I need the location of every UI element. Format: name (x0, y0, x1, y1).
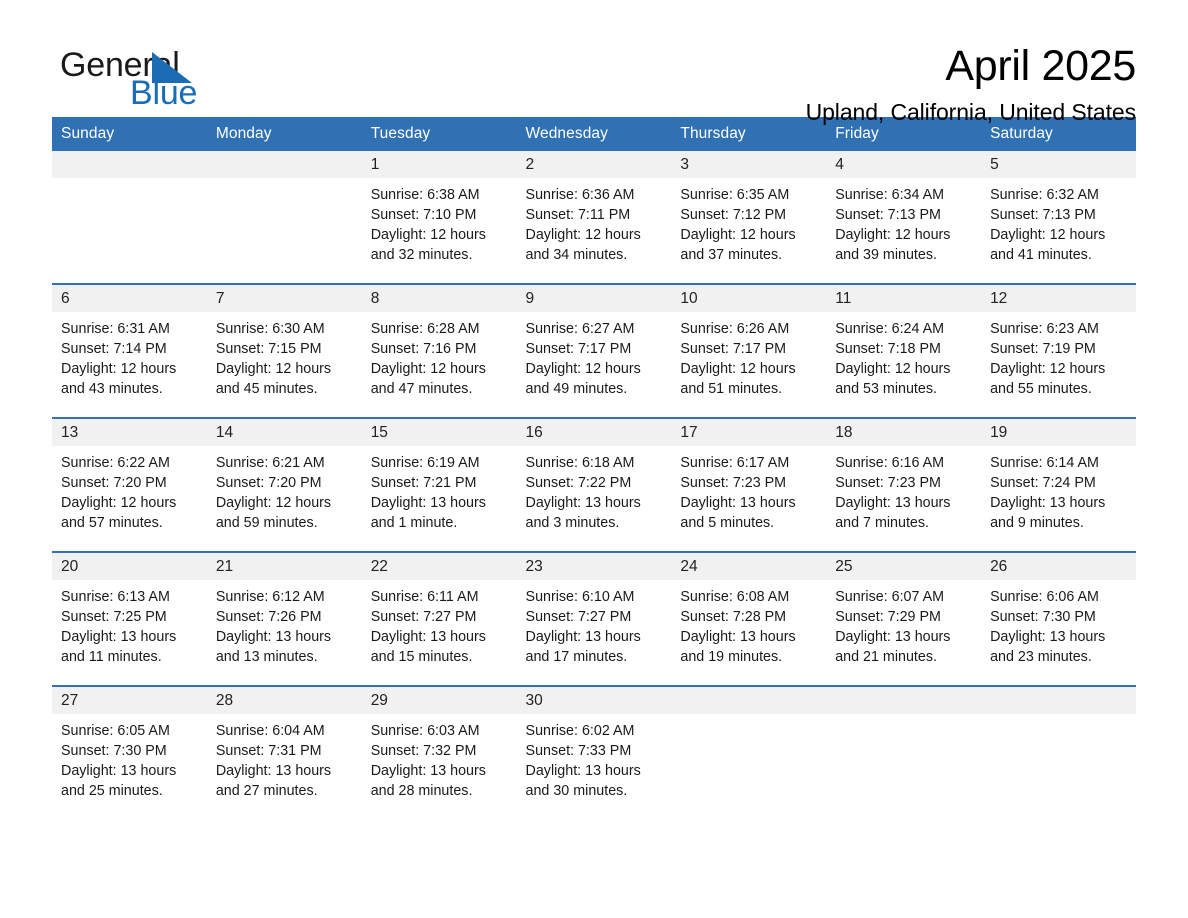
calendar-day-cell[interactable]: 1Sunrise: 6:38 AMSunset: 7:10 PMDaylight… (362, 151, 517, 284)
daylight-duration-line1: Daylight: 13 hours (526, 627, 662, 647)
calendar-day-cell[interactable]: 13Sunrise: 6:22 AMSunset: 7:20 PMDayligh… (52, 418, 207, 552)
calendar-day-cell (826, 686, 981, 819)
daylight-duration-line1: Daylight: 12 hours (680, 225, 816, 245)
day-cell-content: 8Sunrise: 6:28 AMSunset: 7:16 PMDaylight… (362, 285, 517, 417)
calendar-day-cell (981, 686, 1136, 819)
day-number: 16 (517, 419, 672, 446)
sunrise-time: Sunrise: 6:06 AM (990, 587, 1126, 607)
day-cell-content: 6Sunrise: 6:31 AMSunset: 7:14 PMDaylight… (52, 285, 207, 417)
calendar-day-cell (207, 151, 362, 284)
day-details: Sunrise: 6:13 AMSunset: 7:25 PMDaylight:… (52, 580, 207, 667)
sunset-time: Sunset: 7:29 PM (835, 607, 971, 627)
day-number: 28 (207, 687, 362, 714)
sunrise-time: Sunrise: 6:02 AM (526, 721, 662, 741)
calendar-day-cell[interactable]: 7Sunrise: 6:30 AMSunset: 7:15 PMDaylight… (207, 284, 362, 418)
daylight-duration-line1: Daylight: 12 hours (216, 493, 352, 513)
day-cell-content: 17Sunrise: 6:17 AMSunset: 7:23 PMDayligh… (671, 419, 826, 551)
calendar-day-cell[interactable]: 5Sunrise: 6:32 AMSunset: 7:13 PMDaylight… (981, 151, 1136, 284)
sunrise-time: Sunrise: 6:26 AM (680, 319, 816, 339)
day-details: Sunrise: 6:28 AMSunset: 7:16 PMDaylight:… (362, 312, 517, 399)
calendar-day-cell[interactable]: 2Sunrise: 6:36 AMSunset: 7:11 PMDaylight… (517, 151, 672, 284)
day-cell-content: 7Sunrise: 6:30 AMSunset: 7:15 PMDaylight… (207, 285, 362, 417)
day-cell-content: 16Sunrise: 6:18 AMSunset: 7:22 PMDayligh… (517, 419, 672, 551)
weekday-header-wednesday: Wednesday (517, 117, 672, 151)
sunset-time: Sunset: 7:25 PM (61, 607, 197, 627)
day-number: 5 (981, 151, 1136, 178)
daylight-duration-line2: and 59 minutes. (216, 513, 352, 533)
daylight-duration-line1: Daylight: 13 hours (526, 493, 662, 513)
day-cell-content (981, 687, 1136, 819)
day-number: 17 (671, 419, 826, 446)
daylight-duration-line2: and 28 minutes. (371, 781, 507, 801)
day-cell-content: 15Sunrise: 6:19 AMSunset: 7:21 PMDayligh… (362, 419, 517, 551)
sunset-time: Sunset: 7:16 PM (371, 339, 507, 359)
calendar-day-cell[interactable]: 18Sunrise: 6:16 AMSunset: 7:23 PMDayligh… (826, 418, 981, 552)
day-details: Sunrise: 6:06 AMSunset: 7:30 PMDaylight:… (981, 580, 1136, 667)
calendar-day-cell (52, 151, 207, 284)
day-number: 2 (517, 151, 672, 178)
day-number: 30 (517, 687, 672, 714)
calendar-day-cell[interactable]: 16Sunrise: 6:18 AMSunset: 7:22 PMDayligh… (517, 418, 672, 552)
day-number: 7 (207, 285, 362, 312)
sunrise-time: Sunrise: 6:03 AM (371, 721, 507, 741)
sunrise-time: Sunrise: 6:30 AM (216, 319, 352, 339)
daylight-duration-line1: Daylight: 13 hours (61, 761, 197, 781)
sunset-time: Sunset: 7:15 PM (216, 339, 352, 359)
sunset-time: Sunset: 7:13 PM (990, 205, 1126, 225)
sunset-time: Sunset: 7:22 PM (526, 473, 662, 493)
calendar-day-cell[interactable]: 10Sunrise: 6:26 AMSunset: 7:17 PMDayligh… (671, 284, 826, 418)
daylight-duration-line2: and 45 minutes. (216, 379, 352, 399)
daylight-duration-line2: and 1 minute. (371, 513, 507, 533)
sunset-time: Sunset: 7:33 PM (526, 741, 662, 761)
sunset-time: Sunset: 7:14 PM (61, 339, 197, 359)
sunrise-time: Sunrise: 6:34 AM (835, 185, 971, 205)
calendar-day-cell[interactable]: 9Sunrise: 6:27 AMSunset: 7:17 PMDaylight… (517, 284, 672, 418)
day-cell-content: 28Sunrise: 6:04 AMSunset: 7:31 PMDayligh… (207, 687, 362, 819)
calendar-day-cell[interactable]: 8Sunrise: 6:28 AMSunset: 7:16 PMDaylight… (362, 284, 517, 418)
calendar-body: 1Sunrise: 6:38 AMSunset: 7:10 PMDaylight… (52, 151, 1136, 819)
sunrise-time: Sunrise: 6:08 AM (680, 587, 816, 607)
daylight-duration-line2: and 15 minutes. (371, 647, 507, 667)
daylight-duration-line1: Daylight: 12 hours (680, 359, 816, 379)
sunrise-time: Sunrise: 6:24 AM (835, 319, 971, 339)
sunrise-time: Sunrise: 6:14 AM (990, 453, 1126, 473)
sunrise-time: Sunrise: 6:07 AM (835, 587, 971, 607)
day-details: Sunrise: 6:21 AMSunset: 7:20 PMDaylight:… (207, 446, 362, 533)
daylight-duration-line2: and 34 minutes. (526, 245, 662, 265)
daylight-duration-line1: Daylight: 13 hours (835, 493, 971, 513)
day-number: 13 (52, 419, 207, 446)
day-cell-content: 21Sunrise: 6:12 AMSunset: 7:26 PMDayligh… (207, 553, 362, 685)
calendar-day-cell[interactable]: 19Sunrise: 6:14 AMSunset: 7:24 PMDayligh… (981, 418, 1136, 552)
sunset-time: Sunset: 7:23 PM (680, 473, 816, 493)
daylight-duration-line2: and 23 minutes. (990, 647, 1126, 667)
sunrise-time: Sunrise: 6:10 AM (526, 587, 662, 607)
general-blue-logo[interactable]: General Blue (52, 42, 302, 112)
weekday-header-monday: Monday (207, 117, 362, 151)
day-details: Sunrise: 6:35 AMSunset: 7:12 PMDaylight:… (671, 178, 826, 265)
title-block: April 2025 Upland, California, United St… (806, 42, 1136, 126)
calendar-day-cell[interactable]: 21Sunrise: 6:12 AMSunset: 7:26 PMDayligh… (207, 552, 362, 686)
day-cell-content: 26Sunrise: 6:06 AMSunset: 7:30 PMDayligh… (981, 553, 1136, 685)
day-number: 26 (981, 553, 1136, 580)
day-cell-content: 22Sunrise: 6:11 AMSunset: 7:27 PMDayligh… (362, 553, 517, 685)
daylight-duration-line2: and 5 minutes. (680, 513, 816, 533)
day-number: 22 (362, 553, 517, 580)
day-number: 25 (826, 553, 981, 580)
sunrise-time: Sunrise: 6:36 AM (526, 185, 662, 205)
daylight-duration-line1: Daylight: 13 hours (371, 627, 507, 647)
sunset-time: Sunset: 7:20 PM (61, 473, 197, 493)
day-details: Sunrise: 6:17 AMSunset: 7:23 PMDaylight:… (671, 446, 826, 533)
day-cell-content: 18Sunrise: 6:16 AMSunset: 7:23 PMDayligh… (826, 419, 981, 551)
daylight-duration-line1: Daylight: 12 hours (526, 359, 662, 379)
sunset-time: Sunset: 7:26 PM (216, 607, 352, 627)
day-details: Sunrise: 6:32 AMSunset: 7:13 PMDaylight:… (981, 178, 1136, 265)
calendar-day-cell[interactable]: 29Sunrise: 6:03 AMSunset: 7:32 PMDayligh… (362, 686, 517, 819)
calendar-day-cell[interactable]: 30Sunrise: 6:02 AMSunset: 7:33 PMDayligh… (517, 686, 672, 819)
day-number: 14 (207, 419, 362, 446)
day-number: 27 (52, 687, 207, 714)
day-number: 11 (826, 285, 981, 312)
sunrise-time: Sunrise: 6:12 AM (216, 587, 352, 607)
calendar-day-cell[interactable]: 24Sunrise: 6:08 AMSunset: 7:28 PMDayligh… (671, 552, 826, 686)
calendar-day-cell[interactable]: 28Sunrise: 6:04 AMSunset: 7:31 PMDayligh… (207, 686, 362, 819)
sunset-time: Sunset: 7:31 PM (216, 741, 352, 761)
day-cell-content: 20Sunrise: 6:13 AMSunset: 7:25 PMDayligh… (52, 553, 207, 685)
sunset-time: Sunset: 7:27 PM (371, 607, 507, 627)
sunrise-time: Sunrise: 6:19 AM (371, 453, 507, 473)
day-number (207, 151, 362, 178)
day-details: Sunrise: 6:27 AMSunset: 7:17 PMDaylight:… (517, 312, 672, 399)
day-number (671, 687, 826, 714)
calendar-day-cell[interactable]: 12Sunrise: 6:23 AMSunset: 7:19 PMDayligh… (981, 284, 1136, 418)
sunrise-time: Sunrise: 6:13 AM (61, 587, 197, 607)
calendar-day-cell[interactable]: 15Sunrise: 6:19 AMSunset: 7:21 PMDayligh… (362, 418, 517, 552)
day-number: 12 (981, 285, 1136, 312)
calendar-week-row: 6Sunrise: 6:31 AMSunset: 7:14 PMDaylight… (52, 284, 1136, 418)
day-cell-content: 23Sunrise: 6:10 AMSunset: 7:27 PMDayligh… (517, 553, 672, 685)
day-cell-content: 10Sunrise: 6:26 AMSunset: 7:17 PMDayligh… (671, 285, 826, 417)
calendar-week-row: 27Sunrise: 6:05 AMSunset: 7:30 PMDayligh… (52, 686, 1136, 819)
daylight-duration-line1: Daylight: 13 hours (990, 493, 1126, 513)
day-number: 8 (362, 285, 517, 312)
day-number: 6 (52, 285, 207, 312)
weekday-header-thursday: Thursday (671, 117, 826, 151)
sunrise-time: Sunrise: 6:32 AM (990, 185, 1126, 205)
daylight-duration-line2: and 21 minutes. (835, 647, 971, 667)
day-number: 15 (362, 419, 517, 446)
weekday-header-sunday: Sunday (52, 117, 207, 151)
sunset-time: Sunset: 7:28 PM (680, 607, 816, 627)
calendar-day-cell[interactable]: 23Sunrise: 6:10 AMSunset: 7:27 PMDayligh… (517, 552, 672, 686)
day-cell-content: 3Sunrise: 6:35 AMSunset: 7:12 PMDaylight… (671, 151, 826, 283)
daylight-duration-line1: Daylight: 12 hours (526, 225, 662, 245)
daylight-duration-line2: and 27 minutes. (216, 781, 352, 801)
calendar-page: General Blue April 2025 Upland, Californ… (0, 0, 1188, 918)
daylight-duration-line1: Daylight: 13 hours (371, 761, 507, 781)
calendar-day-cell[interactable]: 17Sunrise: 6:17 AMSunset: 7:23 PMDayligh… (671, 418, 826, 552)
day-details: Sunrise: 6:12 AMSunset: 7:26 PMDaylight:… (207, 580, 362, 667)
daylight-duration-line1: Daylight: 12 hours (990, 359, 1126, 379)
day-cell-content: 1Sunrise: 6:38 AMSunset: 7:10 PMDaylight… (362, 151, 517, 283)
daylight-duration-line2: and 17 minutes. (526, 647, 662, 667)
day-cell-content: 2Sunrise: 6:36 AMSunset: 7:11 PMDaylight… (517, 151, 672, 283)
daylight-duration-line2: and 13 minutes. (216, 647, 352, 667)
sunrise-time: Sunrise: 6:27 AM (526, 319, 662, 339)
calendar-day-cell[interactable]: 6Sunrise: 6:31 AMSunset: 7:14 PMDaylight… (52, 284, 207, 418)
day-cell-content: 25Sunrise: 6:07 AMSunset: 7:29 PMDayligh… (826, 553, 981, 685)
day-details: Sunrise: 6:31 AMSunset: 7:14 PMDaylight:… (52, 312, 207, 399)
daylight-duration-line1: Daylight: 12 hours (216, 359, 352, 379)
calendar-day-cell[interactable]: 25Sunrise: 6:07 AMSunset: 7:29 PMDayligh… (826, 552, 981, 686)
sunrise-time: Sunrise: 6:21 AM (216, 453, 352, 473)
day-details: Sunrise: 6:16 AMSunset: 7:23 PMDaylight:… (826, 446, 981, 533)
sunrise-time: Sunrise: 6:28 AM (371, 319, 507, 339)
day-number: 21 (207, 553, 362, 580)
daylight-duration-line2: and 32 minutes. (371, 245, 507, 265)
daylight-duration-line1: Daylight: 13 hours (680, 627, 816, 647)
day-details: Sunrise: 6:11 AMSunset: 7:27 PMDaylight:… (362, 580, 517, 667)
day-number (981, 687, 1136, 714)
day-number: 18 (826, 419, 981, 446)
daylight-duration-line1: Daylight: 13 hours (990, 627, 1126, 647)
day-details: Sunrise: 6:38 AMSunset: 7:10 PMDaylight:… (362, 178, 517, 265)
day-number: 20 (52, 553, 207, 580)
daylight-duration-line1: Daylight: 13 hours (680, 493, 816, 513)
sunset-time: Sunset: 7:30 PM (990, 607, 1126, 627)
calendar-day-cell[interactable]: 26Sunrise: 6:06 AMSunset: 7:30 PMDayligh… (981, 552, 1136, 686)
daylight-duration-line1: Daylight: 12 hours (835, 359, 971, 379)
day-details: Sunrise: 6:14 AMSunset: 7:24 PMDaylight:… (981, 446, 1136, 533)
daylight-duration-line2: and 37 minutes. (680, 245, 816, 265)
sunset-time: Sunset: 7:17 PM (526, 339, 662, 359)
calendar-day-cell (671, 686, 826, 819)
day-details: Sunrise: 6:10 AMSunset: 7:27 PMDaylight:… (517, 580, 672, 667)
day-details: Sunrise: 6:04 AMSunset: 7:31 PMDaylight:… (207, 714, 362, 801)
sunrise-time: Sunrise: 6:22 AM (61, 453, 197, 473)
daylight-duration-line1: Daylight: 13 hours (216, 761, 352, 781)
day-number: 23 (517, 553, 672, 580)
day-details: Sunrise: 6:03 AMSunset: 7:32 PMDaylight:… (362, 714, 517, 801)
page-header: General Blue April 2025 Upland, Californ… (52, 0, 1136, 104)
calendar-week-row: 20Sunrise: 6:13 AMSunset: 7:25 PMDayligh… (52, 552, 1136, 686)
day-cell-content: 9Sunrise: 6:27 AMSunset: 7:17 PMDaylight… (517, 285, 672, 417)
calendar-week-row: 1Sunrise: 6:38 AMSunset: 7:10 PMDaylight… (52, 151, 1136, 284)
sunrise-time: Sunrise: 6:23 AM (990, 319, 1126, 339)
daylight-duration-line2: and 7 minutes. (835, 513, 971, 533)
daylight-duration-line1: Daylight: 12 hours (990, 225, 1126, 245)
daylight-duration-line1: Daylight: 13 hours (216, 627, 352, 647)
day-details: Sunrise: 6:24 AMSunset: 7:18 PMDaylight:… (826, 312, 981, 399)
daylight-duration-line1: Daylight: 12 hours (371, 225, 507, 245)
daylight-duration-line2: and 30 minutes. (526, 781, 662, 801)
daylight-duration-line2: and 25 minutes. (61, 781, 197, 801)
sunrise-time: Sunrise: 6:38 AM (371, 185, 507, 205)
day-cell-content: 29Sunrise: 6:03 AMSunset: 7:32 PMDayligh… (362, 687, 517, 819)
sunset-time: Sunset: 7:27 PM (526, 607, 662, 627)
calendar-day-cell[interactable]: 4Sunrise: 6:34 AMSunset: 7:13 PMDaylight… (826, 151, 981, 284)
sunset-time: Sunset: 7:13 PM (835, 205, 971, 225)
day-details: Sunrise: 6:19 AMSunset: 7:21 PMDaylight:… (362, 446, 517, 533)
day-details: Sunrise: 6:18 AMSunset: 7:22 PMDaylight:… (517, 446, 672, 533)
daylight-duration-line1: Daylight: 12 hours (61, 493, 197, 513)
sunset-time: Sunset: 7:21 PM (371, 473, 507, 493)
sunset-time: Sunset: 7:24 PM (990, 473, 1126, 493)
day-number (826, 687, 981, 714)
daylight-duration-line2: and 39 minutes. (835, 245, 971, 265)
weekday-header-tuesday: Tuesday (362, 117, 517, 151)
sunset-time: Sunset: 7:30 PM (61, 741, 197, 761)
day-details: Sunrise: 6:23 AMSunset: 7:19 PMDaylight:… (981, 312, 1136, 399)
day-cell-content: 5Sunrise: 6:32 AMSunset: 7:13 PMDaylight… (981, 151, 1136, 283)
sunset-time: Sunset: 7:23 PM (835, 473, 971, 493)
day-details: Sunrise: 6:36 AMSunset: 7:11 PMDaylight:… (517, 178, 672, 265)
day-cell-content: 30Sunrise: 6:02 AMSunset: 7:33 PMDayligh… (517, 687, 672, 819)
daylight-duration-line2: and 51 minutes. (680, 379, 816, 399)
day-cell-content (52, 151, 207, 283)
daylight-duration-line2: and 19 minutes. (680, 647, 816, 667)
day-cell-content: 14Sunrise: 6:21 AMSunset: 7:20 PMDayligh… (207, 419, 362, 551)
day-cell-content: 27Sunrise: 6:05 AMSunset: 7:30 PMDayligh… (52, 687, 207, 819)
day-details: Sunrise: 6:07 AMSunset: 7:29 PMDaylight:… (826, 580, 981, 667)
daylight-duration-line2: and 53 minutes. (835, 379, 971, 399)
day-number (52, 151, 207, 178)
daylight-duration-line2: and 43 minutes. (61, 379, 197, 399)
daylight-duration-line2: and 3 minutes. (526, 513, 662, 533)
day-number: 19 (981, 419, 1136, 446)
sunset-time: Sunset: 7:17 PM (680, 339, 816, 359)
sunset-time: Sunset: 7:19 PM (990, 339, 1126, 359)
day-details: Sunrise: 6:08 AMSunset: 7:28 PMDaylight:… (671, 580, 826, 667)
calendar-day-cell[interactable]: 11Sunrise: 6:24 AMSunset: 7:18 PMDayligh… (826, 284, 981, 418)
day-cell-content: 24Sunrise: 6:08 AMSunset: 7:28 PMDayligh… (671, 553, 826, 685)
location-subtitle: Upland, California, United States (806, 99, 1136, 126)
calendar-day-cell[interactable]: 14Sunrise: 6:21 AMSunset: 7:20 PMDayligh… (207, 418, 362, 552)
sunrise-time: Sunrise: 6:35 AM (680, 185, 816, 205)
sunset-time: Sunset: 7:20 PM (216, 473, 352, 493)
daylight-duration-line2: and 11 minutes. (61, 647, 197, 667)
calendar-day-cell[interactable]: 22Sunrise: 6:11 AMSunset: 7:27 PMDayligh… (362, 552, 517, 686)
day-number: 24 (671, 553, 826, 580)
day-number: 3 (671, 151, 826, 178)
sunset-time: Sunset: 7:10 PM (371, 205, 507, 225)
day-details: Sunrise: 6:30 AMSunset: 7:15 PMDaylight:… (207, 312, 362, 399)
daylight-duration-line1: Daylight: 12 hours (835, 225, 971, 245)
day-cell-content (826, 687, 981, 819)
daylight-duration-line2: and 9 minutes. (990, 513, 1126, 533)
daylight-duration-line2: and 55 minutes. (990, 379, 1126, 399)
page-title: April 2025 (806, 44, 1136, 89)
daylight-duration-line1: Daylight: 13 hours (835, 627, 971, 647)
sunset-time: Sunset: 7:12 PM (680, 205, 816, 225)
sunset-time: Sunset: 7:18 PM (835, 339, 971, 359)
sunset-time: Sunset: 7:11 PM (526, 205, 662, 225)
day-details: Sunrise: 6:02 AMSunset: 7:33 PMDaylight:… (517, 714, 672, 801)
sunset-time: Sunset: 7:32 PM (371, 741, 507, 761)
day-details: Sunrise: 6:34 AMSunset: 7:13 PMDaylight:… (826, 178, 981, 265)
day-details: Sunrise: 6:22 AMSunset: 7:20 PMDaylight:… (52, 446, 207, 533)
sunrise-time: Sunrise: 6:05 AM (61, 721, 197, 741)
calendar-week-row: 13Sunrise: 6:22 AMSunset: 7:20 PMDayligh… (52, 418, 1136, 552)
daylight-duration-line1: Daylight: 12 hours (371, 359, 507, 379)
day-details: Sunrise: 6:26 AMSunset: 7:17 PMDaylight:… (671, 312, 826, 399)
daylight-duration-line2: and 49 minutes. (526, 379, 662, 399)
day-cell-content: 11Sunrise: 6:24 AMSunset: 7:18 PMDayligh… (826, 285, 981, 417)
day-cell-content (207, 151, 362, 283)
day-cell-content: 12Sunrise: 6:23 AMSunset: 7:19 PMDayligh… (981, 285, 1136, 417)
day-number: 29 (362, 687, 517, 714)
day-number: 4 (826, 151, 981, 178)
day-number: 1 (362, 151, 517, 178)
daylight-duration-line1: Daylight: 12 hours (61, 359, 197, 379)
daylight-duration-line2: and 47 minutes. (371, 379, 507, 399)
daylight-duration-line1: Daylight: 13 hours (526, 761, 662, 781)
calendar-day-cell[interactable]: 27Sunrise: 6:05 AMSunset: 7:30 PMDayligh… (52, 686, 207, 819)
day-cell-content: 4Sunrise: 6:34 AMSunset: 7:13 PMDaylight… (826, 151, 981, 283)
day-details: Sunrise: 6:05 AMSunset: 7:30 PMDaylight:… (52, 714, 207, 801)
calendar-day-cell[interactable]: 20Sunrise: 6:13 AMSunset: 7:25 PMDayligh… (52, 552, 207, 686)
day-cell-content (671, 687, 826, 819)
daylight-duration-line2: and 41 minutes. (990, 245, 1126, 265)
daylight-duration-line1: Daylight: 13 hours (371, 493, 507, 513)
sunrise-time: Sunrise: 6:16 AM (835, 453, 971, 473)
day-cell-content: 19Sunrise: 6:14 AMSunset: 7:24 PMDayligh… (981, 419, 1136, 551)
daylight-duration-line1: Daylight: 13 hours (61, 627, 197, 647)
sunrise-time: Sunrise: 6:11 AM (371, 587, 507, 607)
sunrise-time: Sunrise: 6:04 AM (216, 721, 352, 741)
sunrise-sunset-calendar: Sunday Monday Tuesday Wednesday Thursday… (52, 117, 1136, 819)
sunrise-time: Sunrise: 6:31 AM (61, 319, 197, 339)
sunrise-time: Sunrise: 6:18 AM (526, 453, 662, 473)
day-number: 10 (671, 285, 826, 312)
sunrise-time: Sunrise: 6:17 AM (680, 453, 816, 473)
logo-word-blue: Blue (130, 76, 197, 110)
day-number: 9 (517, 285, 672, 312)
calendar-day-cell[interactable]: 3Sunrise: 6:35 AMSunset: 7:12 PMDaylight… (671, 151, 826, 284)
day-cell-content: 13Sunrise: 6:22 AMSunset: 7:20 PMDayligh… (52, 419, 207, 551)
daylight-duration-line2: and 57 minutes. (61, 513, 197, 533)
